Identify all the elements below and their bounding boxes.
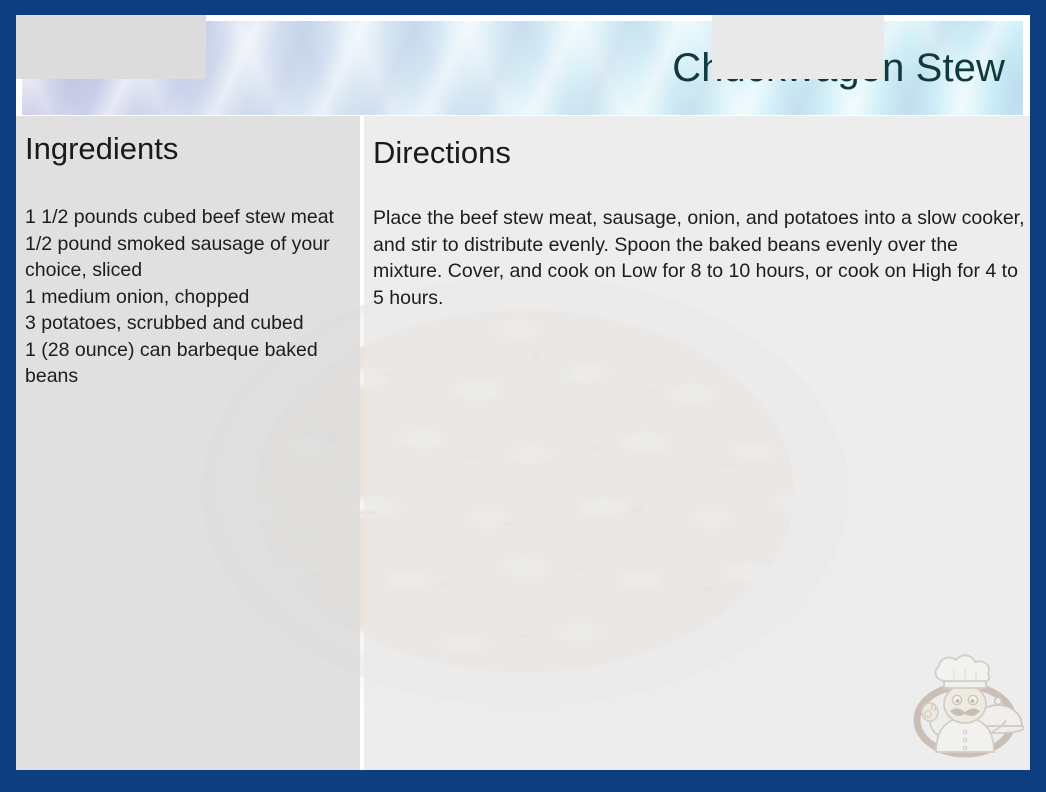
ingredients-heading: Ingredients xyxy=(25,133,178,164)
toque-hat-icon xyxy=(935,655,989,688)
slide-canvas: Chuckwagon Stew xyxy=(16,15,1030,770)
chef-mascot-logo xyxy=(906,648,1024,766)
ok-hand-icon xyxy=(922,703,938,721)
chef-face xyxy=(944,685,986,723)
recipe-slide: Chuckwagon Stew xyxy=(0,0,1046,792)
list-item: 1 medium onion, chopped xyxy=(25,284,357,311)
list-item: 1 (28 ounce) can barbeque baked beans xyxy=(25,337,357,390)
ingredients-list: 1 1/2 pounds cubed beef stew meat 1/2 po… xyxy=(25,204,357,390)
ingredients-heading-band xyxy=(16,15,206,79)
list-item: 3 potatoes, scrubbed and cubed xyxy=(25,310,357,337)
recipe-body: Ingredients Directions 1 1/2 pounds cube… xyxy=(16,116,1030,770)
directions-heading-band xyxy=(712,15,884,79)
directions-heading: Directions xyxy=(373,137,511,168)
directions-text: Place the beef stew meat, sausage, onion… xyxy=(373,205,1029,311)
list-item: 1/2 pound smoked sausage of your choice,… xyxy=(25,231,357,284)
list-item: 1 1/2 pounds cubed beef stew meat xyxy=(25,204,357,231)
